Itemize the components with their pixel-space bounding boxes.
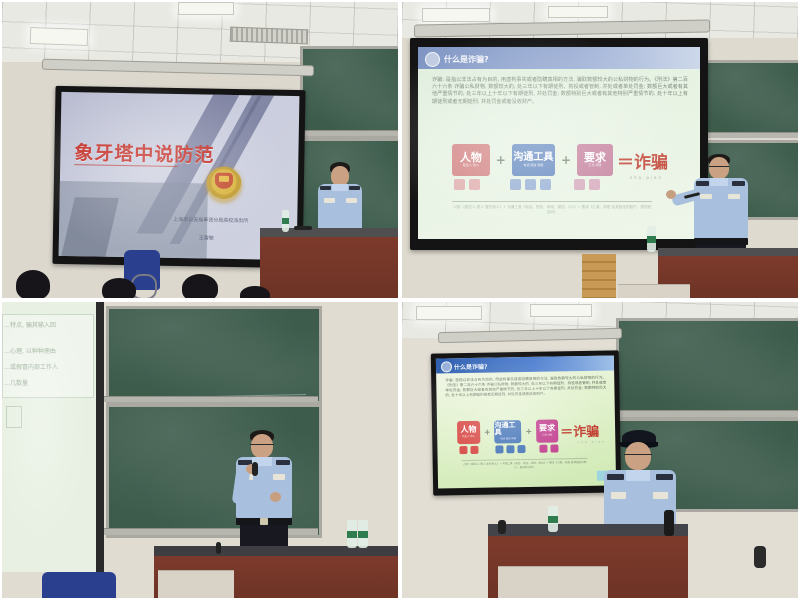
message-icon xyxy=(525,179,536,190)
ceiling-light xyxy=(422,8,490,22)
podium-top xyxy=(658,248,798,256)
term-label: 沟通工具 xyxy=(513,153,553,163)
torso xyxy=(694,178,748,240)
globe-icon xyxy=(540,179,551,190)
slide-title-text: 象牙塔中说防范 xyxy=(74,138,214,167)
epaulette xyxy=(607,474,624,480)
microphone xyxy=(664,510,674,536)
formula-term-person: 人物 陌生人 熟人 xyxy=(452,144,490,176)
icon-row-request xyxy=(539,444,558,452)
speaker-box xyxy=(754,546,766,568)
collar xyxy=(710,178,728,186)
person-icon xyxy=(459,446,467,454)
people-icon xyxy=(470,446,478,454)
person-icon xyxy=(454,179,465,190)
fraud-formula: 人物 陌生人 熟人 + 沟通工具 电话 短信 网络 + 要求 汇款 转账 ＝诈骗 xyxy=(452,143,668,177)
slide-body-text: 诈骗: 是指以非法占有为目的, 用虚构事实或者隐瞒真相的方法, 骗取数额较大的公… xyxy=(432,77,688,106)
collar xyxy=(332,184,348,191)
term-label: 人物 xyxy=(460,426,476,434)
slide-body-text: 诈骗: 是指以非法占有为目的, 用虚构事实或者隐瞒真相的方法, 骗取数额较大的公… xyxy=(445,376,606,399)
slide-fraud-definition: 什么是诈骗? 诈骗: 是指以非法占有为目的, 用虚构事实或者隐瞒真相的方法, 骗… xyxy=(418,47,700,239)
photo-bottom-right[interactable]: 什么是诈骗? 诈骗: 是指以非法占有为目的, 用虚构事实或者隐瞒真相的方法, 骗… xyxy=(402,302,798,598)
collar xyxy=(626,470,650,481)
icon-row-tools xyxy=(510,179,551,190)
term-label: 沟通工具 xyxy=(494,422,521,436)
name-badge xyxy=(728,194,740,199)
name-badge xyxy=(653,492,668,499)
hand xyxy=(270,492,281,502)
slide-presenter: 王雷敏 xyxy=(199,234,214,241)
formula-term-request: 要求 汇款 转账 xyxy=(536,419,558,442)
water-bottle xyxy=(282,210,289,232)
formula-term-request: 要求 汇款 转账 xyxy=(577,144,613,176)
term-label: 要求 xyxy=(584,152,606,163)
name-badge xyxy=(700,194,712,199)
police-emblem-icon xyxy=(206,166,243,203)
phone-icon xyxy=(510,179,521,190)
slide-footnote: 人物:《陌生人 熟人 冒充熟人》+ 沟通工具《电话、短信、网络、微信》+ 要求《… xyxy=(462,461,588,471)
microphone xyxy=(498,520,506,534)
epaulette xyxy=(276,460,290,465)
phone-icon xyxy=(495,445,503,453)
epaulette xyxy=(696,181,709,186)
microphone xyxy=(252,462,258,476)
slide-subtitle: 上海市公安局奉贤分局高校派出所 xyxy=(173,216,248,224)
podium-base xyxy=(498,566,608,598)
glasses-icon xyxy=(250,444,274,445)
speaker-person xyxy=(232,430,296,556)
icon-row-tools xyxy=(495,445,525,454)
photo-bottom-left[interactable]: …特点, 骗其输入回 …心理, 以种种理由 …或假冒内部工作人 …几数量 xyxy=(2,302,398,598)
icon-row-request xyxy=(574,179,600,190)
photo-collage: 象牙塔中说防范 上海市公安局奉贤分局高校派出所 王雷敏 xyxy=(0,0,800,600)
photo-top-right[interactable]: 什么是诈骗? 诈骗: 是指以非法占有为目的, 用虚构事实或者隐瞒真相的方法, 骗… xyxy=(402,2,798,298)
office-chair xyxy=(42,572,116,598)
money-icon xyxy=(539,445,547,453)
term-sub: 陌生人 熟人 xyxy=(463,164,479,168)
podium-top xyxy=(488,524,688,536)
formula-operator: + xyxy=(561,153,571,167)
chalk-rail xyxy=(298,130,398,136)
term-label: 要求 xyxy=(539,424,555,432)
podium xyxy=(260,228,398,298)
head xyxy=(709,157,729,179)
globe-icon xyxy=(517,445,525,453)
screen-edge xyxy=(96,302,104,584)
formula-result: ＝诈骗 xyxy=(617,148,668,173)
formula-pinyin: zha pian xyxy=(630,175,663,180)
icon-row-person xyxy=(454,179,480,190)
ceiling-light xyxy=(416,306,482,320)
name-badge xyxy=(346,198,357,203)
message-icon xyxy=(506,445,514,453)
term-sub: 陌生人 熟人 xyxy=(462,435,475,438)
blackboard xyxy=(300,46,398,138)
formula-result: ＝诈骗 xyxy=(560,420,599,440)
podium-base xyxy=(618,284,690,298)
slide-header: 什么是诈骗? xyxy=(454,362,488,372)
chalk-rail xyxy=(614,410,798,417)
audience-head xyxy=(182,274,218,298)
term-sub: 汇款 转账 xyxy=(589,164,602,168)
microphone xyxy=(294,226,312,230)
ceiling-light xyxy=(548,6,608,18)
microphone xyxy=(216,542,221,554)
card-icon xyxy=(589,179,600,190)
formula-operator: + xyxy=(496,153,506,167)
name-badge xyxy=(324,198,335,203)
projection-screen-frame: 什么是诈骗? 诈骗: 是指以非法占有为目的, 用虚构事实或者隐瞒真相的方法, 骗… xyxy=(431,350,621,495)
water-bottle xyxy=(548,506,558,532)
photo-top-left[interactable]: 象牙塔中说防范 上海市公安局奉贤分局高校派出所 王雷敏 xyxy=(2,2,398,298)
blackboard xyxy=(702,60,798,138)
slide-partial-line-2: …心理, 以种种理由 xyxy=(4,346,90,357)
projection-screen-partial: …特点, 骗其输入回 …心理, 以种种理由 …或假冒内部工作人 …几数量 xyxy=(2,302,98,572)
head xyxy=(251,434,273,458)
podium-top xyxy=(260,228,398,237)
head xyxy=(625,442,651,470)
people-icon xyxy=(469,179,480,190)
formula-term-tool: 沟通工具 电话 短信 网络 xyxy=(512,144,555,176)
epaulette xyxy=(732,181,745,186)
chalk-rail xyxy=(700,132,798,138)
ceiling-light xyxy=(30,27,89,46)
epaulette xyxy=(656,474,673,480)
glasses-icon xyxy=(624,454,652,455)
slide-partial-line-4: …几数量 xyxy=(4,378,90,389)
slide-fraud-definition: 什么是诈骗? 诈骗: 是指以非法占有为目的, 用虚构事实或者隐瞒真相的方法, 骗… xyxy=(436,355,616,488)
audience-head xyxy=(102,278,136,298)
water-bottle xyxy=(347,520,357,548)
water-bottle xyxy=(647,226,656,252)
audience-head xyxy=(240,286,270,298)
formula-operator: + xyxy=(484,427,491,436)
belt-buckle xyxy=(260,518,268,525)
projection-screen-frame: 什么是诈骗? 诈骗: 是指以非法占有为目的, 用虚构事实或者隐瞒真相的方法, 骗… xyxy=(410,38,708,250)
blackboard xyxy=(616,318,798,418)
wooden-stool xyxy=(582,254,616,298)
name-badge xyxy=(273,474,285,480)
torso xyxy=(318,184,362,234)
formula-term-tool: 沟通工具 电话 短信 网络 xyxy=(494,420,521,443)
slide-header: 什么是诈骗? xyxy=(444,54,489,65)
ceiling-light xyxy=(530,304,592,317)
belt xyxy=(694,238,748,245)
formula-operator: + xyxy=(525,426,532,435)
term-sub: 电话 短信 网络 xyxy=(500,437,516,440)
water-bottle xyxy=(358,520,368,548)
slide-footnote: 人物:《陌生人 熟人 冒充熟人》+ 沟通工具《电话、短信、网络、微信、QQ》+ … xyxy=(452,205,652,216)
term-sub: 汇款 转账 xyxy=(542,434,552,437)
hand xyxy=(666,190,676,199)
money-icon xyxy=(574,179,585,190)
header-bullet-icon xyxy=(425,52,440,67)
slide-partial-line-3: …或假冒内部工作人 xyxy=(4,362,90,373)
epaulette xyxy=(349,186,360,190)
formula-term-person: 人物 陌生人 熟人 xyxy=(457,420,480,443)
icon-row-person xyxy=(459,446,478,454)
name-badge xyxy=(611,492,626,499)
glasses-icon xyxy=(709,166,729,167)
card-icon xyxy=(550,444,558,452)
air-vent-icon xyxy=(230,27,308,45)
head xyxy=(331,166,349,186)
audience-head xyxy=(16,270,50,298)
podium-base xyxy=(158,570,234,598)
term-sub: 电话 短信 网络 xyxy=(523,164,543,168)
blackboard xyxy=(106,306,322,404)
epaulette xyxy=(320,186,331,190)
term-label: 人物 xyxy=(460,152,482,163)
chalk-rail xyxy=(104,396,318,402)
ceiling-light xyxy=(178,2,234,15)
slide-partial-line-1: …特点, 骗其输入回 xyxy=(4,320,90,331)
